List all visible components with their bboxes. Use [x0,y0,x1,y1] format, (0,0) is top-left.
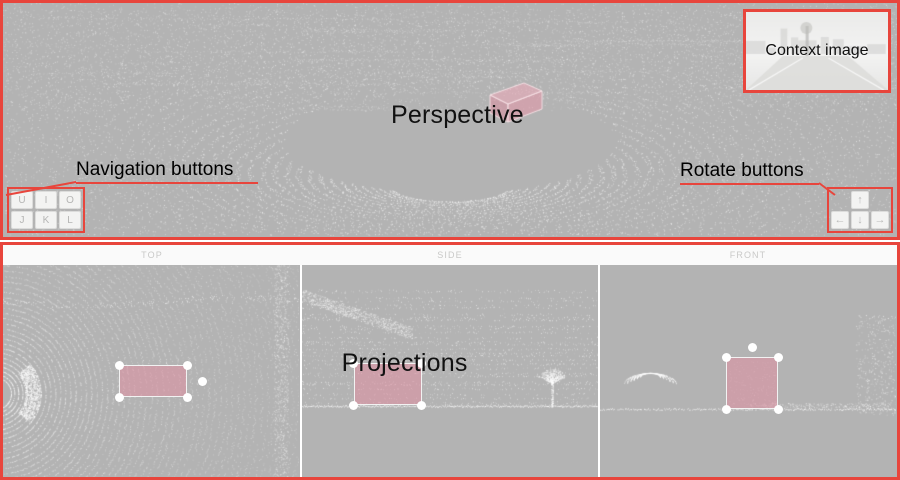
rotate-buttons-callout-label: Rotate buttons [680,160,804,182]
projections-label: Projections [342,349,468,378]
front-handle-ne[interactable] [774,353,783,362]
top-bounding-box[interactable] [119,365,187,397]
top-handle-heading[interactable] [198,377,207,386]
side-handle-sw[interactable] [349,401,358,410]
top-handle-sw[interactable] [115,393,124,402]
arrow-up-icon[interactable]: ↑ [851,191,869,209]
context-image-panel[interactable]: Context image [743,9,891,93]
front-projection-view[interactable] [600,265,897,477]
projection-headers: TOP SIDE FRONT [3,245,897,265]
front-bounding-box[interactable] [726,357,778,409]
navigation-callout-connector [0,180,90,200]
projection-header-side: SIDE [301,245,599,265]
arrow-left-icon[interactable]: ← [831,211,849,229]
projections-panel: TOP SIDE FRONT P [0,242,900,480]
perspective-label: Perspective [391,101,524,130]
rotate-spacer-right [871,191,889,209]
nav-key-j[interactable]: J [11,211,33,229]
front-handle-sw[interactable] [722,405,731,414]
perspective-view[interactable]: Perspective Context image U I O J K L ↑ … [0,0,900,240]
front-handle-nw[interactable] [722,353,731,362]
navigation-callout-rule [76,182,258,184]
projection-header-top: TOP [3,245,301,265]
top-handle-ne[interactable] [183,361,192,370]
top-projection-view[interactable] [3,265,302,477]
context-image-label: Context image [746,42,888,60]
front-handle-se[interactable] [774,405,783,414]
front-handle-top[interactable] [748,343,757,352]
rotate-callout-rule [680,183,819,185]
side-handle-se[interactable] [417,401,426,410]
nav-key-k[interactable]: K [35,211,57,229]
arrow-down-icon[interactable]: ↓ [851,211,869,229]
top-handle-nw[interactable] [115,361,124,370]
arrow-right-icon[interactable]: → [871,211,889,229]
projection-header-front: FRONT [599,245,897,265]
annotation-tool-window: Perspective Context image U I O J K L ↑ … [0,0,900,480]
navigation-buttons-callout-label: Navigation buttons [76,159,233,181]
top-handle-se[interactable] [183,393,192,402]
nav-key-l[interactable]: L [59,211,81,229]
rotate-callout-connector [810,181,850,199]
side-projection-view[interactable]: Projections [302,265,601,477]
projection-views: Projections [3,265,897,477]
